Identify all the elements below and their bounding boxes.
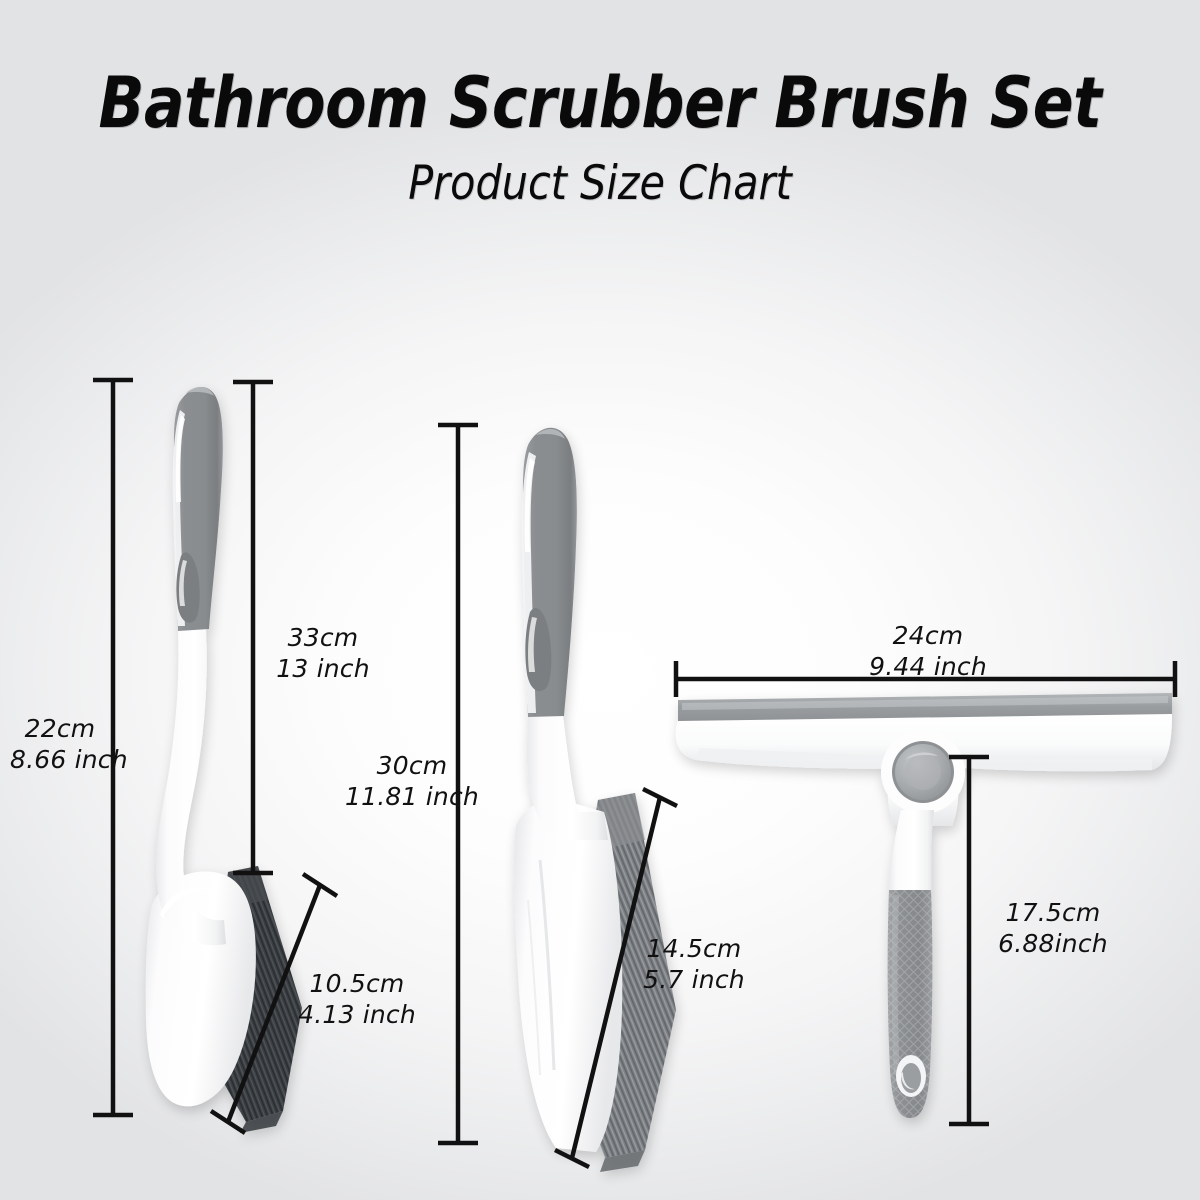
label-33cm-inch: 13 inch — [268, 653, 378, 684]
label-22cm-inch: 8.66 inch — [10, 744, 110, 775]
label-33cm: 33cm 13 inch — [268, 622, 378, 684]
label-22cm-cm: 22cm — [25, 714, 96, 743]
label-10-5cm: 10.5cm 4.13 inch — [292, 968, 422, 1030]
label-14-5cm: 14.5cm 5.7 inch — [632, 933, 756, 995]
label-24cm: 24cm 9.44 inch — [858, 620, 998, 682]
page-title: Bathroom Scrubber Brush Set — [84, 62, 1116, 144]
label-22cm: 22cm 8.66 inch — [10, 713, 110, 775]
label-17-5cm: 17.5cm 6.88inch — [988, 897, 1118, 959]
label-10-5cm-inch: 4.13 inch — [292, 999, 422, 1030]
label-30cm-cm: 30cm — [377, 751, 448, 780]
label-14-5cm-cm: 14.5cm — [647, 934, 742, 963]
dimline-17-5cm — [949, 757, 989, 1124]
label-30cm-inch: 11.81 inch — [344, 781, 480, 812]
label-24cm-cm: 24cm — [893, 621, 964, 650]
page-subtitle: Product Size Chart — [72, 156, 1128, 211]
label-30cm: 30cm 11.81 inch — [344, 750, 480, 812]
label-17-5cm-cm: 17.5cm — [1006, 898, 1101, 927]
label-33cm-cm: 33cm — [288, 623, 359, 652]
dimline-33cm — [233, 382, 273, 873]
label-17-5cm-inch: 6.88inch — [988, 928, 1118, 959]
label-24cm-inch: 9.44 inch — [858, 651, 998, 682]
label-10-5cm-cm: 10.5cm — [310, 969, 405, 998]
label-14-5cm-inch: 5.7 inch — [632, 964, 756, 995]
size-chart-canvas: Bathroom Scrubber Brush Set Product Size… — [0, 0, 1200, 1200]
